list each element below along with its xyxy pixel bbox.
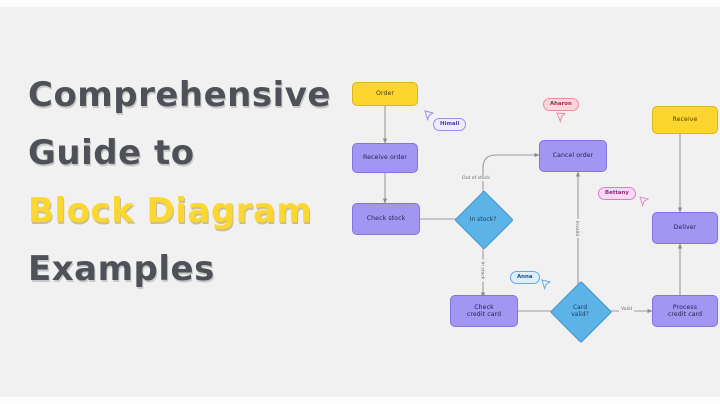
node-in-stock-decision[interactable]: In stock? bbox=[463, 199, 503, 239]
title-line-3: Block Diagram bbox=[28, 182, 328, 240]
node-cancel-order-label: Cancel order bbox=[553, 152, 594, 160]
node-process-credit-card[interactable]: Process credit card bbox=[652, 295, 718, 327]
collaborator-name-bettany: Bettany bbox=[598, 187, 636, 200]
node-deliver-label: Deliver bbox=[674, 224, 697, 232]
letterbox-band-bottom bbox=[0, 397, 720, 404]
node-cancel-order[interactable]: Cancel order bbox=[539, 140, 607, 172]
cursor-pointer-icon bbox=[639, 196, 649, 207]
letterbox-band-top bbox=[0, 0, 720, 7]
edge-label-valid: Valid bbox=[619, 307, 634, 312]
node-deliver[interactable]: Deliver bbox=[652, 212, 718, 244]
node-card-valid-label: Card valid? bbox=[559, 290, 601, 332]
collaborator-name-aharon: Aharon bbox=[543, 98, 579, 111]
screenshot-canvas: Comprehensive Guide to Block Diagram Exa… bbox=[0, 0, 720, 404]
cursor-pointer-icon bbox=[556, 112, 566, 123]
node-receive[interactable]: Receive bbox=[652, 106, 718, 134]
node-receive-order-label: Receive order bbox=[363, 154, 407, 162]
node-check-credit-card-label: Check credit card bbox=[467, 304, 501, 319]
edge-label-in-stock: In stock bbox=[479, 260, 484, 282]
node-process-credit-card-label: Process credit card bbox=[668, 304, 702, 319]
node-order[interactable]: Order bbox=[352, 82, 418, 106]
collaborator-name-himali: Himali bbox=[433, 118, 466, 131]
node-in-stock-label: In stock? bbox=[463, 199, 503, 239]
title-line-2: Guide to bbox=[28, 124, 328, 182]
page-title: Comprehensive Guide to Block Diagram Exa… bbox=[28, 66, 328, 298]
title-line-1: Comprehensive bbox=[28, 66, 328, 124]
flowchart: Order Receive order Check stock In stock… bbox=[330, 0, 720, 404]
node-receive-label: Receive bbox=[673, 116, 698, 124]
node-card-valid-decision[interactable]: Card valid? bbox=[559, 290, 601, 332]
node-check-stock-label: Check stock bbox=[367, 215, 406, 223]
cursor-pointer-icon bbox=[541, 279, 551, 290]
node-check-stock[interactable]: Check stock bbox=[352, 203, 420, 235]
edge-label-out-of-stock: Out of stock bbox=[460, 176, 492, 181]
cursor-pointer-icon bbox=[424, 110, 434, 121]
flowchart-connectors bbox=[330, 0, 720, 404]
node-check-credit-card[interactable]: Check credit card bbox=[450, 295, 518, 327]
collaborator-name-anna: Anna bbox=[510, 271, 540, 284]
edge-label-invalid: Invalid bbox=[574, 219, 579, 238]
node-order-label: Order bbox=[376, 90, 394, 98]
title-line-4: Examples bbox=[28, 240, 328, 298]
node-receive-order[interactable]: Receive order bbox=[352, 143, 418, 173]
